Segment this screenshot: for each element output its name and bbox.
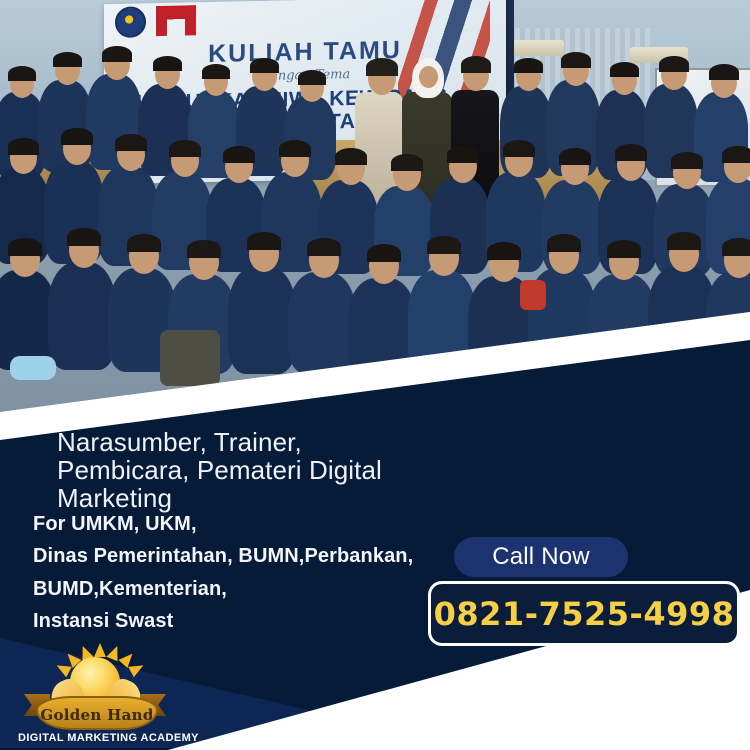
headline: Narasumber, Trainer, Pembicara, Pemateri…: [57, 428, 382, 512]
brand-ribbon: Golden Hand: [36, 696, 158, 730]
brand-tagline: DIGITAL MARKETING ACADEMY: [18, 732, 198, 744]
golden-hand-sun-logo-icon: Golden Hand: [30, 644, 160, 730]
audience-line-1: For UMKM, UKM,: [33, 508, 413, 540]
call-now-button[interactable]: Call Now: [454, 537, 628, 577]
brand-logo: Golden Hand DIGITAL MARKETING ACADEMY: [18, 644, 198, 744]
promo-poster: KULIAH TAMU Dengan Tema UMBUHKAN JIWA KE…: [0, 0, 750, 750]
headline-line-2: Pembicara, Pemateri Digital: [57, 456, 382, 484]
brand-name: Golden Hand: [40, 706, 153, 724]
headline-line-1: Narasumber, Trainer,: [57, 428, 382, 456]
phone-number[interactable]: 0821-7525-4998: [434, 595, 735, 633]
audience-line-2: Dinas Pemerintahan, BUMN,Perbankan,: [33, 540, 413, 572]
audience-line-3: BUMD,Kementerian,: [33, 573, 413, 605]
audience-line-4: Instansi Swast: [33, 605, 413, 637]
audience-list: For UMKM, UKM, Dinas Pemerintahan, BUMN,…: [33, 508, 413, 638]
phone-number-box[interactable]: 0821-7525-4998: [428, 581, 740, 646]
